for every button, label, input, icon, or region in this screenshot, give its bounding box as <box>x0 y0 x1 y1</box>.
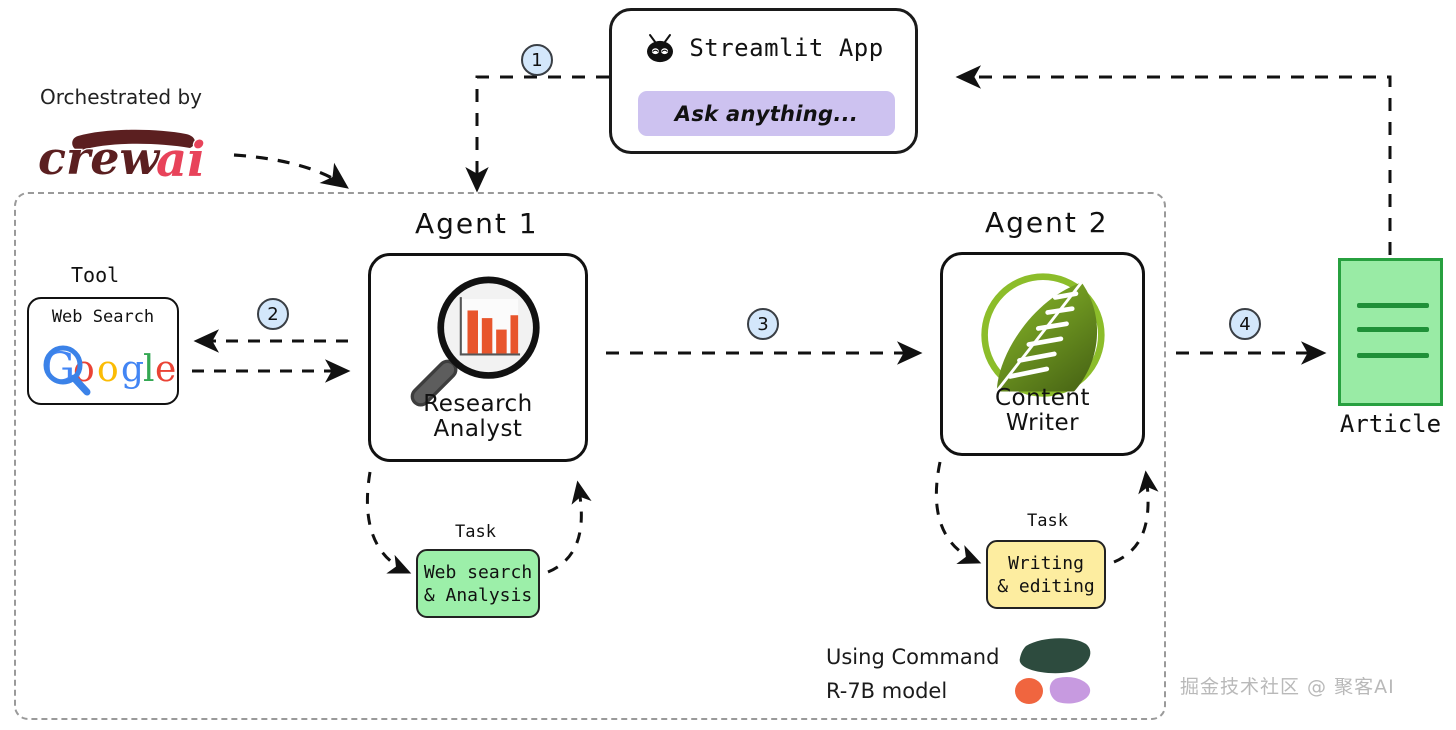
agent-1-card[interactable]: Research Analyst <box>368 253 588 462</box>
agent-2-task-box[interactable]: Writing & editing <box>986 540 1106 609</box>
streamlit-app-card[interactable]: Streamlit App Ask anything... <box>609 8 918 154</box>
agent-1-name: Research Analyst <box>371 392 585 442</box>
svg-text:l: l <box>143 349 155 390</box>
model-note-line1: Using Command <box>826 640 999 674</box>
document-line <box>1357 353 1429 358</box>
svg-text:e: e <box>155 349 176 390</box>
article-document-icon <box>1338 258 1443 406</box>
tool-label: Tool <box>71 263 119 287</box>
agent-1-heading: Agent 1 <box>415 207 539 240</box>
svg-text:g: g <box>121 349 144 390</box>
svg-text:crew: crew <box>38 131 161 184</box>
agent-2-heading: Agent 2 <box>985 206 1109 239</box>
ask-anything-input[interactable]: Ask anything... <box>638 91 895 136</box>
step-badge-3: 3 <box>747 308 779 340</box>
document-line <box>1357 303 1429 308</box>
agent-2-name: Content Writer <box>943 386 1142 436</box>
step-badge-1: 1 <box>521 44 553 76</box>
arrow-streamlit-to-agent1 <box>477 77 609 188</box>
robot-icon <box>643 33 677 63</box>
ask-anything-text: Ask anything... <box>675 102 858 126</box>
model-note-line2: R-7B model <box>826 674 999 708</box>
model-note: Using Command R-7B model <box>826 640 999 708</box>
step-badge-4: 4 <box>1229 308 1261 340</box>
orchestrated-by-label: Orchestrated by <box>40 85 202 109</box>
document-line <box>1357 327 1429 332</box>
crewai-logo: crew ai <box>36 122 236 184</box>
diagram-canvas: Streamlit App Ask anything... Orchestrat… <box>0 0 1456 730</box>
web-search-tool-card[interactable]: Web Search G o o g l e <box>27 297 179 405</box>
agent-2-task-label: Task <box>1027 511 1068 531</box>
watermark: 掘金技术社区 @ 聚客AI <box>1180 672 1395 699</box>
streamlit-title: Streamlit App <box>689 34 883 62</box>
step-badge-2: 2 <box>257 298 289 330</box>
web-search-title: Web Search <box>29 307 177 327</box>
article-label: Article <box>1318 410 1456 438</box>
agent-1-task-box[interactable]: Web search & Analysis <box>416 549 540 618</box>
svg-text:o: o <box>97 349 119 390</box>
google-logo-icon: G o o g l e <box>29 337 177 399</box>
svg-text:ai: ai <box>156 132 205 184</box>
arrow-crewai-to-container <box>234 155 345 186</box>
agent-1-task-label: Task <box>455 522 496 542</box>
agent-2-card[interactable]: Content Writer <box>940 252 1145 456</box>
streamlit-header: Streamlit App <box>612 33 915 63</box>
cohere-logo <box>1012 634 1096 704</box>
